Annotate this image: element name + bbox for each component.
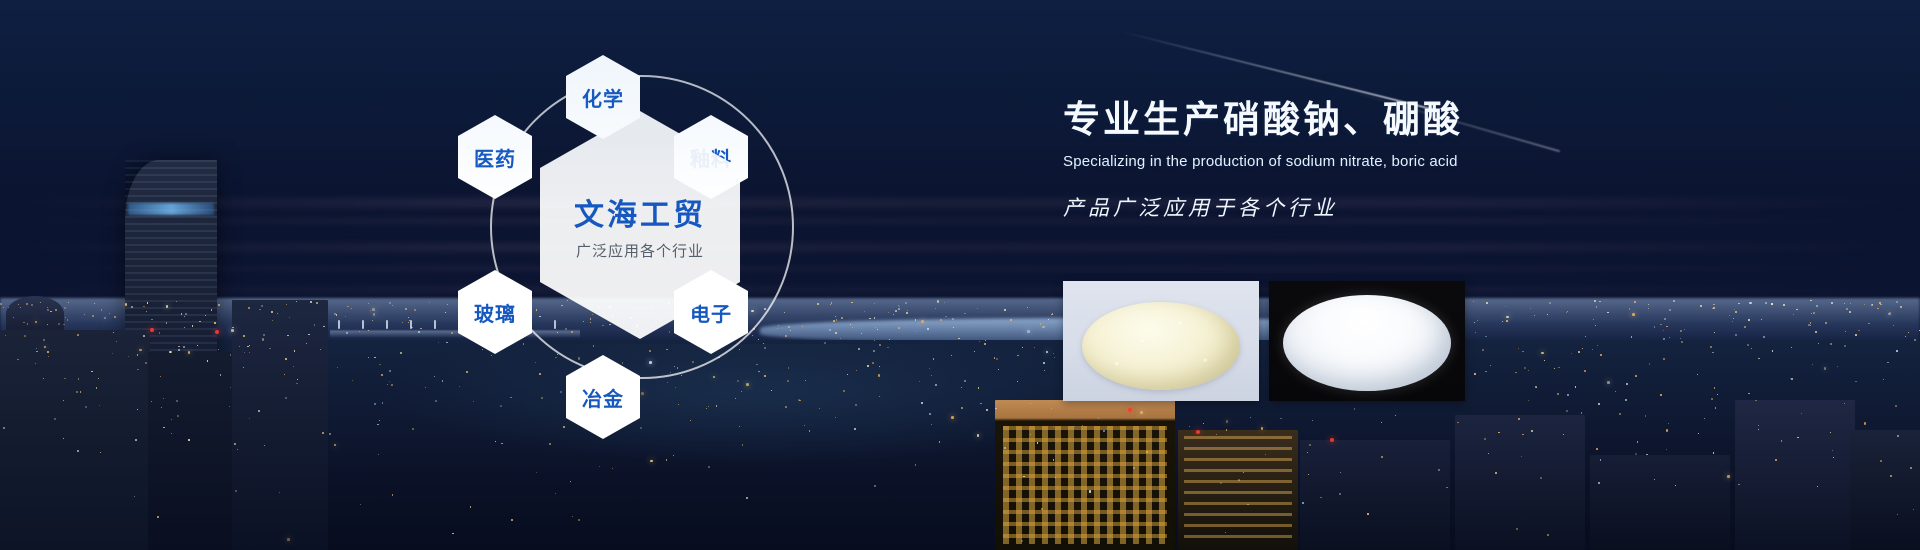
hex-node-label: 医药 bbox=[474, 143, 516, 172]
product-photo-boric-acid[interactable] bbox=[1269, 281, 1465, 401]
product-photo-row bbox=[1063, 281, 1465, 401]
company-tagline: 广泛应用各个行业 bbox=[576, 240, 704, 261]
promo-banner: 化学 釉料 电子 冶金 玻璃 医药 文海工贸 广泛应用各个行业 专业生产硝酸钠、… bbox=[0, 0, 1920, 550]
company-name: 文海工贸 bbox=[574, 190, 706, 234]
powder-pile bbox=[1082, 302, 1240, 390]
hex-node-label: 玻璃 bbox=[474, 298, 516, 327]
product-photo-sodium-nitrate[interactable] bbox=[1063, 281, 1259, 401]
city-lights bbox=[0, 0, 1920, 550]
tagline-text: 产品广泛应用于各个行业 bbox=[1063, 192, 1763, 222]
hex-node-label: 冶金 bbox=[582, 383, 624, 412]
hex-node-label: 化学 bbox=[582, 83, 624, 112]
industry-hex-diagram: 化学 釉料 电子 冶金 玻璃 医药 文海工贸 广泛应用各个行业 bbox=[430, 15, 850, 435]
powder-pile bbox=[1283, 295, 1451, 391]
headline-block: 专业生产硝酸钠、硼酸 Specializing in the productio… bbox=[1063, 100, 1763, 222]
subline-text: Specializing in the production of sodium… bbox=[1063, 153, 1763, 170]
headline-text: 专业生产硝酸钠、硼酸 bbox=[1063, 100, 1763, 141]
